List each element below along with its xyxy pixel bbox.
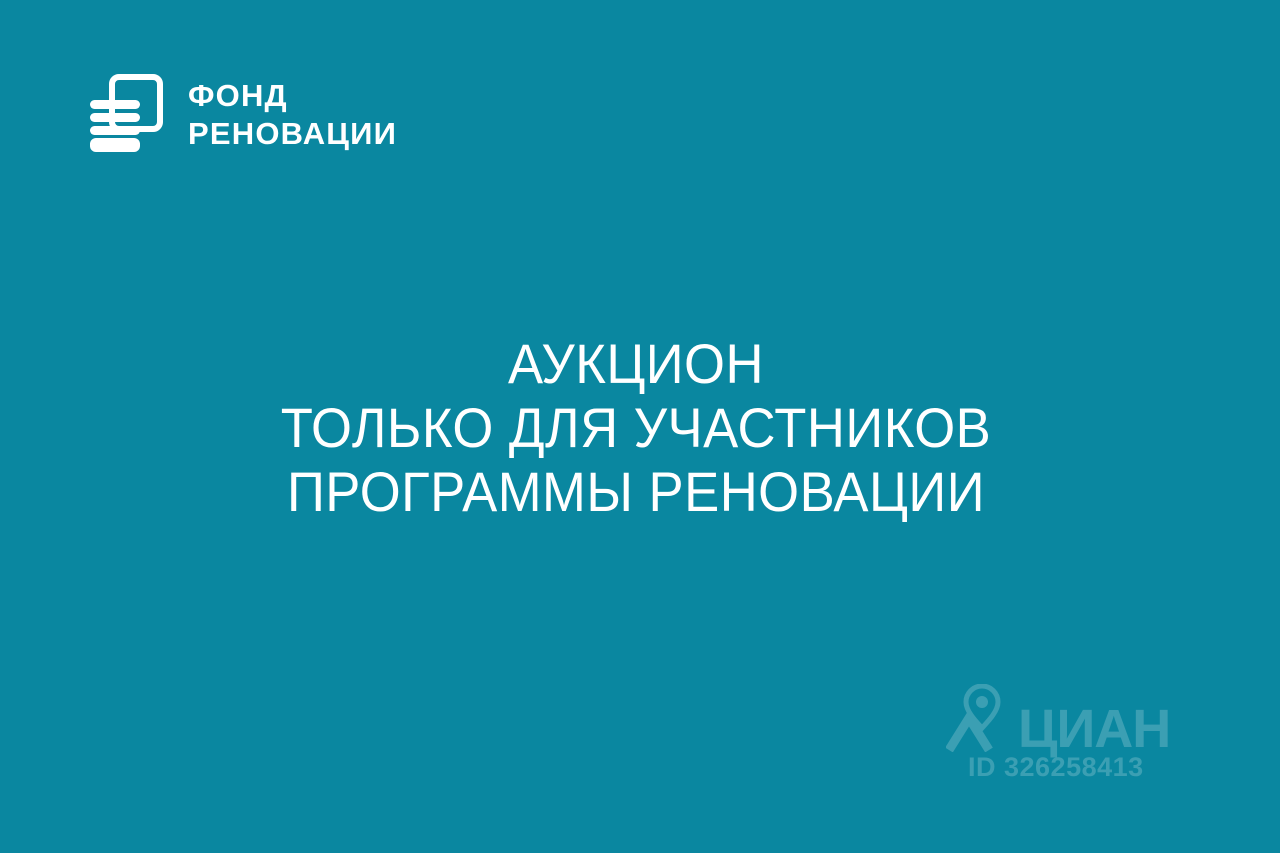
cian-listing-id: ID 326258413 (968, 752, 1144, 783)
headline-line-3: ПРОГРАММЫ РЕНОВАЦИИ (38, 460, 1234, 524)
brand-line-renovacii: РЕНОВАЦИИ (188, 118, 397, 149)
brand-lockup: ФОНД РЕНОВАЦИИ (86, 72, 397, 156)
headline-block: АУКЦИОН ТОЛЬКО ДЛЯ УЧАСТНИКОВ ПРОГРАММЫ … (0, 332, 1272, 524)
headline-line-2: ТОЛЬКО ДЛЯ УЧАСТНИКОВ (38, 396, 1234, 460)
promo-slide: ФОНД РЕНОВАЦИИ АУКЦИОН ТОЛЬКО ДЛЯ УЧАСТН… (0, 0, 1280, 853)
cian-logo: ЦИАН (946, 684, 1170, 752)
map-pin-icon (946, 684, 1008, 752)
brand-line-fond: ФОНД (188, 80, 397, 111)
brand-wordmark: ФОНД РЕНОВАЦИИ (188, 80, 397, 149)
cian-brand-text: ЦИАН (1018, 702, 1170, 756)
headline-line-1: АУКЦИОН (38, 332, 1234, 396)
cian-watermark: ЦИАН ID 326258413 (946, 684, 1178, 784)
document-stack-icon (86, 72, 166, 156)
